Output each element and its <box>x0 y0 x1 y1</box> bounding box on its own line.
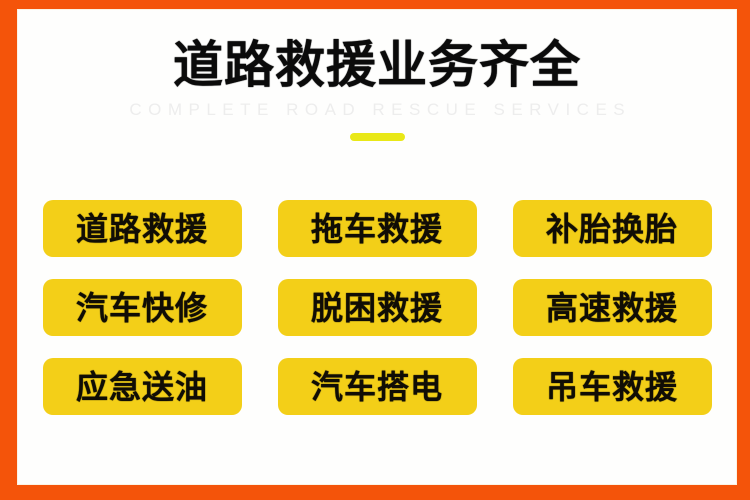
poster-inner-panel: 道路救援业务齐全 COMPLETE ROAD RESCUE SERVICES 道… <box>17 9 737 485</box>
service-button-highway-rescue[interactable]: 高速救援 <box>513 279 712 336</box>
service-button-emergency-fuel-delivery[interactable]: 应急送油 <box>43 358 242 415</box>
poster-header: 道路救援业务齐全 COMPLETE ROAD RESCUE SERVICES <box>17 37 737 141</box>
service-button-tow-rescue[interactable]: 拖车救援 <box>278 200 477 257</box>
service-button-label: 道路救援 <box>76 212 208 246</box>
page-title: 道路救援业务齐全 <box>17 37 737 93</box>
service-button-label: 脱困救援 <box>311 291 443 325</box>
service-button-tire-repair-replace[interactable]: 补胎换胎 <box>513 200 712 257</box>
accent-bar-container <box>17 132 737 141</box>
service-button-label: 汽车搭电 <box>311 370 443 404</box>
service-button-label: 应急送油 <box>76 370 208 404</box>
poster-canvas: 道路救援业务齐全 COMPLETE ROAD RESCUE SERVICES 道… <box>0 0 750 500</box>
service-button-quick-car-repair[interactable]: 汽车快修 <box>43 279 242 336</box>
service-button-jump-start[interactable]: 汽车搭电 <box>278 358 477 415</box>
service-button-road-rescue[interactable]: 道路救援 <box>43 200 242 257</box>
accent-bar <box>350 133 405 141</box>
service-button-extrication-rescue[interactable]: 脱困救援 <box>278 279 477 336</box>
service-button-label: 高速救援 <box>546 291 678 325</box>
service-button-grid: 道路救援 拖车救援 补胎换胎 汽车快修 脱困救援 高速救援 应急送油 汽车搭电 <box>41 200 713 415</box>
service-button-crane-rescue[interactable]: 吊车救援 <box>513 358 712 415</box>
service-button-label: 拖车救援 <box>311 212 443 246</box>
service-button-label: 吊车救援 <box>546 370 678 404</box>
service-button-label: 汽车快修 <box>76 291 208 325</box>
page-subtitle: COMPLETE ROAD RESCUE SERVICES <box>17 100 737 120</box>
service-button-label: 补胎换胎 <box>546 212 678 246</box>
